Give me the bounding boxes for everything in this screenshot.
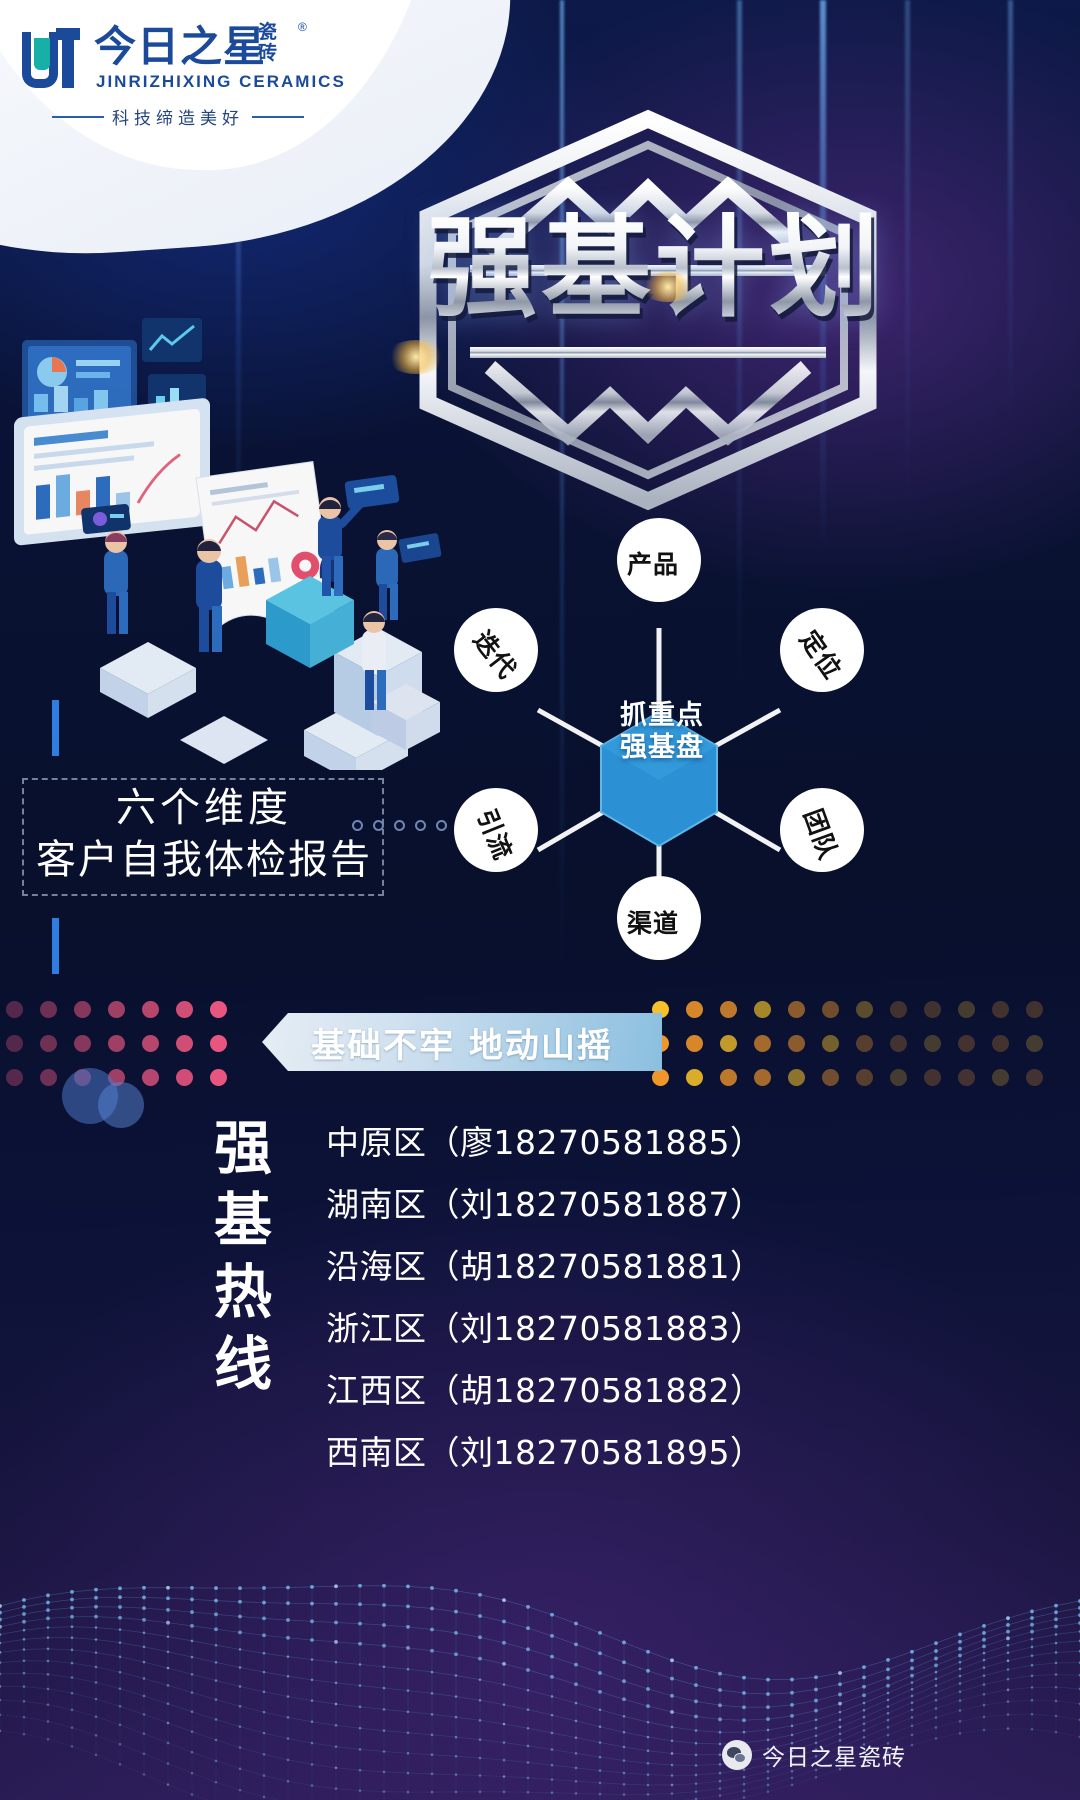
diagram-center-label: 抓重点 强基盘 (588, 700, 736, 764)
slogan-rule-right (252, 116, 304, 118)
light-beam (1008, 0, 1013, 430)
dot-icon (74, 1035, 91, 1052)
dot-icon (720, 1069, 737, 1086)
dot-icon (686, 1035, 703, 1052)
center-line-1: 抓重点 (588, 700, 736, 732)
dot-icon (6, 1069, 23, 1086)
logo-ceramics-char2: 砖 (258, 42, 277, 64)
logo-mark-icon (22, 28, 84, 90)
dot-icon (1026, 1001, 1043, 1018)
dot-icon (176, 1069, 193, 1086)
dot-icon (108, 1035, 125, 1052)
dot-icon (210, 1001, 227, 1018)
slogan-text: 科技缔造美好 (112, 104, 244, 129)
hotline-row[interactable]: 中原区（廖18270581885） (326, 1112, 756, 1174)
dot-icon (1026, 1035, 1043, 1052)
dot-icon (74, 1001, 91, 1018)
wechat-icon (722, 1740, 752, 1770)
logo-ceramics-label: 瓷 砖 (258, 22, 277, 64)
dot-icon (40, 1035, 57, 1052)
center-line-2: 强基盘 (588, 732, 736, 764)
hotline-vertical-title: 强基热线 (212, 1112, 274, 1400)
dot-icon (890, 1069, 907, 1086)
dot-icon (958, 1035, 975, 1052)
hotline-row[interactable]: 浙江区（刘18270581883） (326, 1298, 756, 1360)
accent-tick-top (52, 700, 59, 756)
dot-icon (652, 1069, 669, 1086)
dot-icon (992, 1069, 1009, 1086)
dot-icon (788, 1069, 805, 1086)
dot-icon (176, 1001, 193, 1018)
business-analytics-illustration (4, 300, 474, 770)
dot-icon (856, 1001, 873, 1018)
dot-icon (822, 1069, 839, 1086)
dot-icon (210, 1035, 227, 1052)
dot-icon (856, 1069, 873, 1086)
registered-mark-icon: ® (298, 20, 307, 34)
logo-english-name: JINRIZHIXING CERAMICS (96, 72, 346, 92)
logo-ceramics-char1: 瓷 (258, 21, 277, 43)
dot-icon (176, 1035, 193, 1052)
decorative-dot-grid-right (652, 1000, 1060, 1104)
dot-icon (958, 1069, 975, 1086)
decorative-circles (62, 1068, 162, 1130)
callout-line-1: 六个维度 (26, 782, 382, 834)
dot-icon (754, 1035, 771, 1052)
dot-icon (352, 820, 363, 831)
dot-icon (822, 1035, 839, 1052)
dot-icon (924, 1035, 941, 1052)
circle-icon (98, 1082, 144, 1128)
dot-icon (720, 1035, 737, 1052)
dot-icon (686, 1001, 703, 1018)
dot-icon (40, 1001, 57, 1018)
footer-account-name: 今日之星瓷砖 (762, 1738, 906, 1772)
dot-icon (788, 1035, 805, 1052)
dot-icon (108, 1001, 125, 1018)
diagram-node-channel[interactable]: 渠道 (627, 904, 679, 940)
dot-icon (822, 1001, 839, 1018)
brand-logo: 今日之星 瓷 砖 ® JINRIZHIXING CERAMICS 科技缔造美好 (22, 22, 312, 114)
dot-icon (720, 1001, 737, 1018)
dot-icon (686, 1069, 703, 1086)
dot-icon (394, 820, 405, 831)
dot-icon (788, 1001, 805, 1018)
dot-icon (754, 1001, 771, 1018)
dot-icon (415, 820, 426, 831)
dot-icon (373, 820, 384, 831)
dot-icon (856, 1035, 873, 1052)
callout-line-2: 客户自我体检报告 (26, 834, 382, 886)
dot-icon (754, 1069, 771, 1086)
hotline-title-char: 热 (212, 1256, 274, 1328)
dot-icon (992, 1001, 1009, 1018)
accent-tick-bottom (52, 918, 59, 974)
decorative-dots (352, 820, 447, 831)
hotline-title-char: 基 (212, 1184, 274, 1256)
dot-icon (210, 1069, 227, 1086)
dot-icon (992, 1035, 1009, 1052)
hotline-title-char: 强 (212, 1112, 274, 1184)
dot-icon (142, 1035, 159, 1052)
hotline-row[interactable]: 沿海区（胡18270581881） (326, 1236, 756, 1298)
slogan-banner-text: 基础不牢 地动山摇 (262, 1013, 662, 1071)
dot-icon (924, 1001, 941, 1018)
brand-slogan: 科技缔造美好 (52, 104, 304, 129)
dot-icon (924, 1069, 941, 1086)
logo-chinese-name: 今日之星 (94, 24, 266, 70)
dot-icon (958, 1001, 975, 1018)
dimension-callout-text: 六个维度 客户自我体检报告 (26, 782, 382, 886)
hotline-row[interactable]: 湖南区（刘18270581887） (326, 1174, 756, 1236)
slogan-rule-left (52, 116, 104, 118)
footer-account[interactable]: 今日之星瓷砖 (722, 1738, 906, 1772)
dot-icon (6, 1001, 23, 1018)
dot-icon (1026, 1069, 1043, 1086)
diagram-node-product[interactable]: 产品 (627, 545, 679, 581)
dot-icon (6, 1035, 23, 1052)
bottom-mesh-wave (0, 1370, 1080, 1800)
sparkle-icon (640, 272, 696, 302)
dot-icon (890, 1035, 907, 1052)
dot-icon (890, 1001, 907, 1018)
dot-icon (142, 1001, 159, 1018)
dot-icon (40, 1069, 57, 1086)
